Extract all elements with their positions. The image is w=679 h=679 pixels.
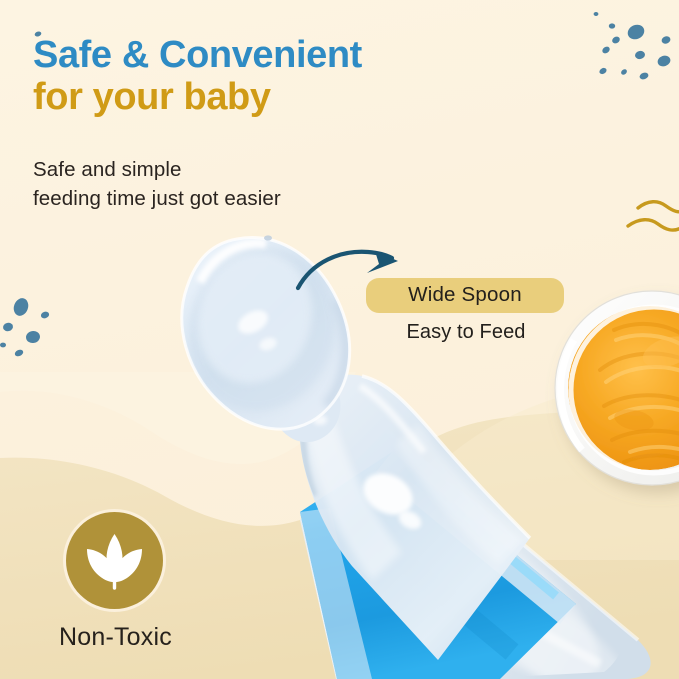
subcopy-block: Safe and simple feeding time just got ea…	[33, 155, 281, 213]
callout-badge: Wide Spoon	[366, 278, 564, 313]
headline-line-2: for your baby	[33, 76, 463, 119]
headline-line-1: Safe & Convenient	[33, 36, 463, 74]
headline-block: Safe & Convenient for your baby	[33, 36, 463, 119]
non-toxic-label: Non-Toxic	[59, 623, 262, 652]
product-marketing-image: Safe & Convenient for your baby Safe and…	[0, 0, 679, 679]
wide-spoon-callout: Wide Spoon Easy to Feed	[366, 278, 566, 344]
callout-sub-label: Easy to Feed	[366, 321, 566, 344]
badge-circle	[66, 512, 163, 609]
callout-badge-label: Wide Spoon	[408, 283, 522, 306]
subcopy-line-2: feeding time just got easier	[33, 184, 281, 213]
non-toxic-badge: Non-Toxic	[62, 512, 262, 652]
baby-food-puree-bowl	[555, 291, 679, 485]
leaf-trio-icon	[66, 512, 163, 609]
subcopy-line-1: Safe and simple	[33, 155, 281, 184]
